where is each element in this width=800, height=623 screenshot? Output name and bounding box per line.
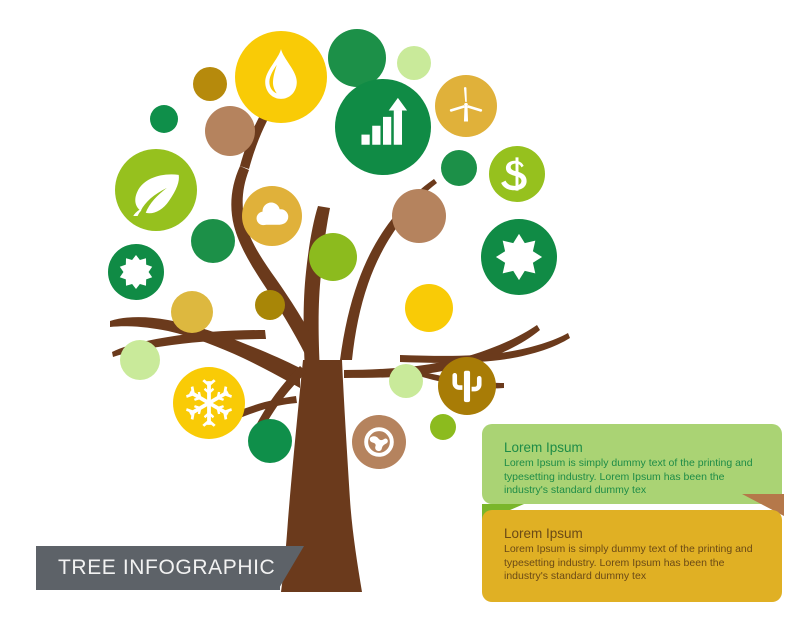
decorative-circle [248,419,292,463]
decorative-circle [397,46,431,80]
decorative-circle [150,105,178,133]
decorative-circle [255,290,285,320]
wind-turbine-icon-node[interactable] [435,75,497,137]
decorative-circle [389,364,423,398]
decorative-circle [392,189,446,243]
sun-icon [496,234,542,280]
decorative-circle [171,291,213,333]
callout-green-body: Lorem Ipsum is simply dummy text of the … [504,457,760,498]
callout-green-title: Lorem Ipsum [504,440,760,455]
branch-far-right [400,333,570,363]
decorative-circle [430,414,456,440]
decorative-circle [191,219,235,263]
callout-yellow-body: Lorem Ipsum is simply dummy text of the … [504,543,760,584]
callout-green[interactable]: Lorem Ipsum Lorem Ipsum is simply dummy … [482,424,782,504]
gear-icon-node[interactable] [108,244,164,300]
bar-chart-growth-icon-node[interactable] [335,79,431,175]
decorative-circle [193,67,227,101]
cactus-icon-node[interactable] [438,357,496,415]
page-title: TREE INFOGRAPHIC [58,556,275,580]
decorative-circle [328,29,386,87]
dollar-sign-icon-node[interactable] [489,146,545,202]
globe-icon-node[interactable] [352,415,406,469]
bar-chart-growth-icon-circle[interactable] [335,79,431,175]
sun-icon-node[interactable] [481,219,557,295]
cloud-icon-node[interactable] [242,186,302,246]
title-banner-bevel [278,546,304,590]
decorative-circle [205,106,255,156]
decorative-circle [441,150,477,186]
callout-yellow-title: Lorem Ipsum [504,526,760,541]
snowflake-icon-node[interactable] [173,367,245,439]
decorative-circle [405,284,453,332]
branch-right-upper [340,214,403,360]
callout-yellow[interactable]: Lorem Ipsum Lorem Ipsum is simply dummy … [482,510,782,602]
water-drop-icon-node[interactable] [235,31,327,123]
decorative-circle [309,233,357,281]
leaf-icon-node[interactable] [115,149,197,231]
decorative-circle [120,340,160,380]
infographic-canvas: Lorem Ipsum Lorem Ipsum is simply dummy … [0,0,800,623]
